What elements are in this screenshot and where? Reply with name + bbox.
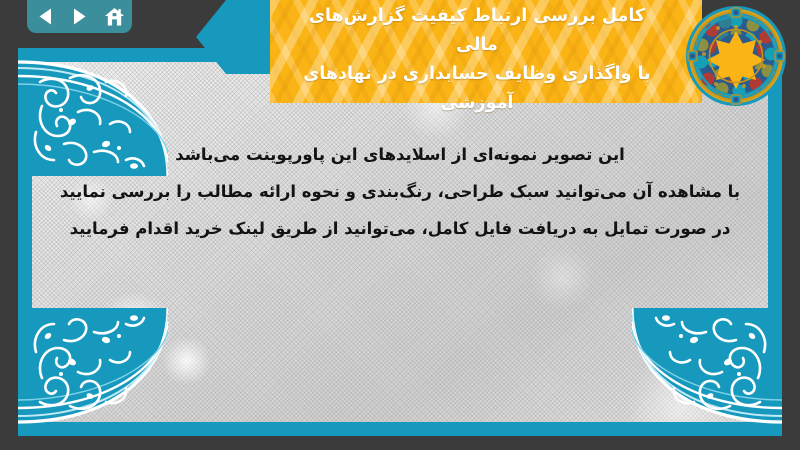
presentation-viewer: این تصویر نمونه‌ای از اسلایدهای این پاور… — [0, 0, 800, 450]
title-line-2: با واگذاری وظایف حسابداری در نهادهای — [292, 60, 662, 89]
home-button[interactable] — [102, 5, 128, 29]
page-title: کامل بررسی ارتباط کیفیت گزارش‌های مالی ب… — [270, 0, 702, 118]
persian-medallion-ornament — [684, 4, 788, 108]
slide-body-text: این تصویر نمونه‌ای از اسلایدهای این پاور… — [58, 136, 742, 247]
slide-title-banner: کامل بررسی ارتباط کیفیت گزارش‌های مالی ب… — [270, 0, 702, 103]
home-icon — [104, 7, 125, 27]
triangle-right-icon — [71, 7, 89, 26]
body-line-3: در صورت تمایل به دریافت فایل کامل، می‌تو… — [58, 210, 742, 247]
title-line-3: آموزشی — [292, 89, 662, 118]
previous-slide-button[interactable] — [32, 5, 58, 29]
chevron-tab — [196, 0, 280, 74]
triangle-left-icon — [36, 7, 54, 26]
body-line-1: این تصویر نمونه‌ای از اسلایدهای این پاور… — [58, 136, 742, 173]
slide-navigation-bar — [27, 0, 132, 33]
next-slide-button[interactable] — [67, 5, 93, 29]
title-line-1: کامل بررسی ارتباط کیفیت گزارش‌های مالی — [292, 2, 662, 60]
body-line-2: با مشاهده آن می‌توانید سبک طراحی، رنگ‌بن… — [58, 173, 742, 210]
